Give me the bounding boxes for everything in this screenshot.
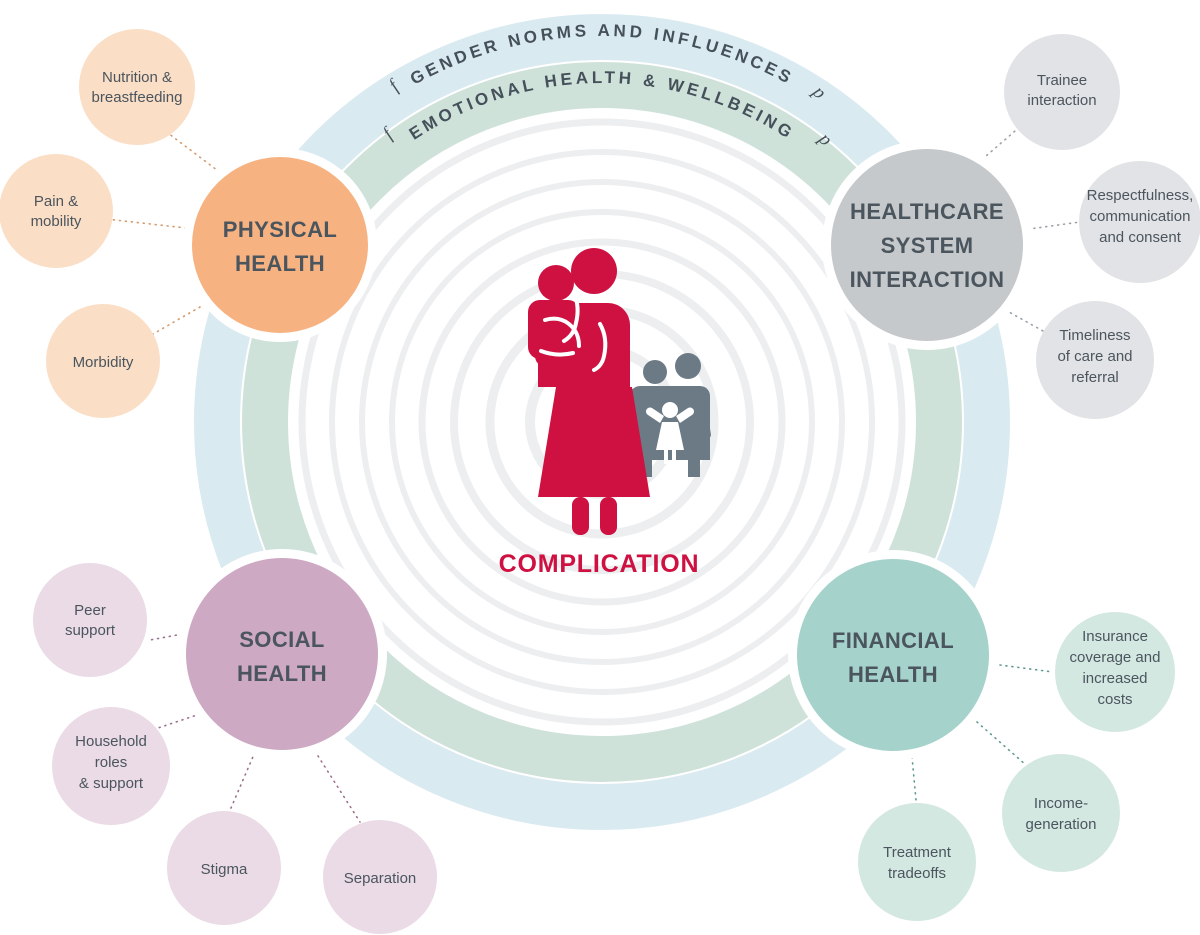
satellite-label-line: Peer (74, 602, 106, 619)
satellite-label-line: and consent (1099, 229, 1182, 246)
complication-label: COMPLICATION (499, 550, 700, 578)
mother-and-baby-icon (528, 248, 650, 535)
connector-treatment-tradeoffs (912, 757, 916, 800)
satellite-bubble[interactable] (79, 29, 195, 145)
satellite-respectfulness-communication-consent[interactable]: Respectfulness, communication and consen… (1079, 161, 1200, 283)
hub-label-line: INTERACTION (850, 267, 1005, 292)
satellite-bubble[interactable] (0, 154, 113, 268)
satellite-label-line: Timeliness (1059, 327, 1130, 344)
connector-insurance (1000, 665, 1053, 672)
hub-financial-health[interactable]: FINANCIAL HEALTH (788, 550, 998, 760)
satellite-label-line: communication (1090, 208, 1191, 225)
satellite-label-line: Pain & (34, 193, 78, 210)
satellite-label-line: Stigma (201, 861, 248, 878)
satellite-label-line: roles (95, 754, 128, 771)
connector-income-generation (977, 722, 1026, 765)
hub-bubble[interactable] (186, 558, 378, 750)
connector-household-roles (152, 714, 200, 730)
hub-healthcare-system-interaction[interactable]: HEALTHCARE SYSTEM INTERACTION (822, 140, 1032, 350)
hub-bubble[interactable] (192, 157, 368, 333)
satellite-label-line: Insurance (1082, 628, 1148, 645)
satellite-label-line: Morbidity (73, 354, 134, 371)
hub-social-health[interactable]: SOCIAL HEALTH (177, 549, 387, 759)
hub-label-line: HEALTH (237, 661, 327, 686)
satellite-label-line: Separation (344, 870, 417, 887)
connector-pain-mobility (106, 219, 186, 228)
connector-morbidity (148, 307, 200, 337)
satellite-morbidity[interactable]: Morbidity (46, 304, 160, 418)
satellite-label-line: generation (1026, 816, 1097, 833)
satellite-label-line: mobility (31, 213, 82, 230)
maternal-health-framework-diagram: GENDER NORMS AND INFLUENCES f p EMOTIONA… (0, 0, 1200, 935)
hub-label-line: SYSTEM (881, 233, 974, 258)
satellite-pain-mobility[interactable]: Pain & mobility (0, 154, 113, 268)
hub-label-line: FINANCIAL (832, 628, 954, 653)
connector-separation (318, 756, 360, 822)
satellite-label-line: breastfeeding (92, 89, 183, 106)
hub-label-line: PHYSICAL (223, 217, 337, 242)
satellite-label-line: Trainee (1037, 72, 1087, 89)
satellite-label-line: support (65, 622, 116, 639)
hub-label-line: HEALTHCARE (850, 199, 1004, 224)
hub-bubble[interactable] (797, 559, 989, 751)
satellite-household-roles-support[interactable]: Household roles & support (52, 707, 170, 825)
satellite-label-line: costs (1097, 691, 1132, 708)
satellite-stigma[interactable]: Stigma (167, 811, 281, 925)
satellite-treatment-tradeoffs[interactable]: Treatment tradeoffs (858, 803, 976, 921)
connector-stigma (228, 752, 255, 815)
satellite-income-generation[interactable]: Income- generation (1002, 754, 1120, 872)
satellite-label-line: of care and (1057, 348, 1132, 365)
diagram-canvas: GENDER NORMS AND INFLUENCES f p EMOTIONA… (0, 0, 1200, 935)
satellite-insurance-coverage-increased-costs[interactable]: Insurance coverage and increased costs (1055, 612, 1175, 732)
satellite-bubble[interactable] (33, 563, 147, 677)
satellite-label-line: Respectfulness, (1087, 187, 1194, 204)
satellite-label-line: tradeoffs (888, 865, 946, 882)
satellite-trainee-interaction[interactable]: Trainee interaction (1004, 34, 1120, 150)
satellite-label-line: Household (75, 733, 147, 750)
satellite-bubble[interactable] (1002, 754, 1120, 872)
satellite-label-line: Treatment (883, 844, 952, 861)
satellite-timeliness-of-care-and-referral[interactable]: Timeliness of care and referral (1036, 301, 1154, 419)
hub-label-line: HEALTH (235, 251, 325, 276)
satellite-label-line: interaction (1027, 92, 1096, 109)
satellite-separation[interactable]: Separation (323, 820, 437, 934)
satellite-bubble[interactable] (858, 803, 976, 921)
satellite-label-line: & support (79, 775, 144, 792)
satellite-peer-support[interactable]: Peer support (33, 563, 147, 677)
satellite-label-line: increased (1082, 670, 1147, 687)
satellite-label-line: Nutrition & (102, 69, 172, 86)
satellite-nutrition-breastfeeding[interactable]: Nutrition & breastfeeding (79, 29, 195, 145)
hub-physical-health[interactable]: PHYSICAL HEALTH (183, 148, 377, 342)
satellite-label-line: coverage and (1070, 649, 1161, 666)
hub-label-line: HEALTH (848, 662, 938, 687)
hub-label-line: SOCIAL (239, 627, 325, 652)
satellite-label-line: referral (1071, 369, 1119, 386)
satellite-label-line: Income- (1034, 795, 1088, 812)
